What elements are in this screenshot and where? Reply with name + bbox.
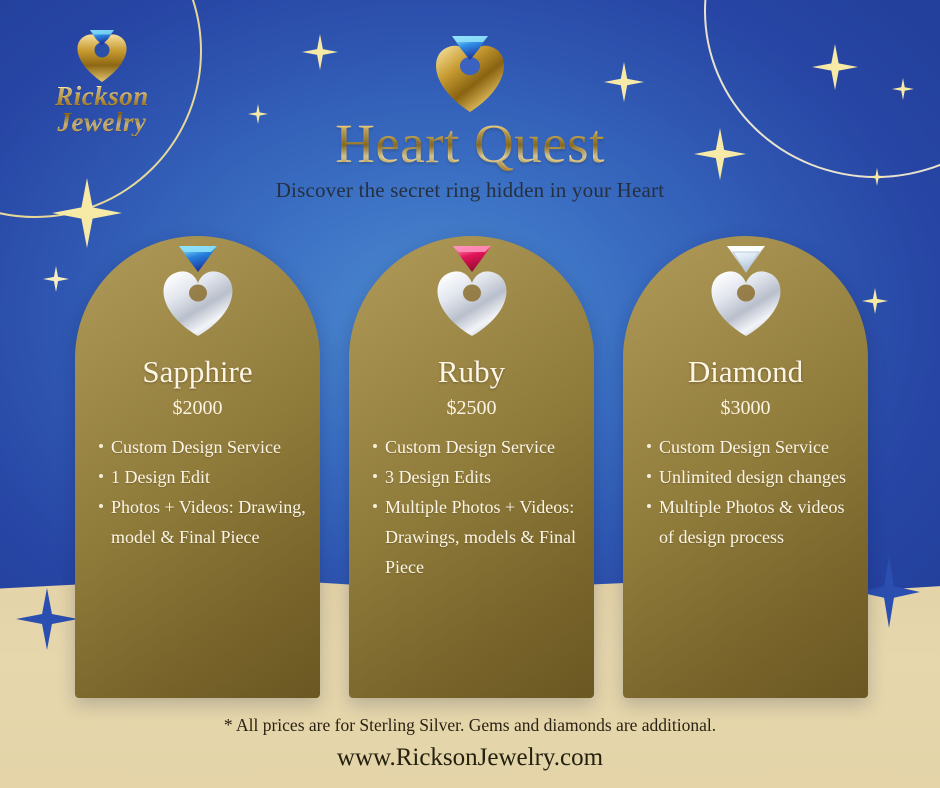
card-title: Ruby xyxy=(349,356,594,387)
feature-list: Custom Design Service Unlimited design c… xyxy=(623,432,868,552)
list-item: Custom Design Service xyxy=(647,432,858,462)
silver-heart-ring-icon xyxy=(687,250,805,342)
header: Heart Quest Discover the secret ring hid… xyxy=(0,16,940,203)
feature-list: Custom Design Service 1 Design Edit Phot… xyxy=(75,432,320,552)
silver-heart-ring-icon xyxy=(413,250,531,342)
card-price: $2500 xyxy=(349,397,594,420)
list-item: Custom Design Service xyxy=(99,432,310,462)
pricing-card-ruby[interactable]: Ruby $2500 Custom Design Service 3 Desig… xyxy=(349,236,594,698)
feature-list: Custom Design Service 3 Design Edits Mul… xyxy=(349,432,594,582)
pricing-card-diamond[interactable]: Diamond $3000 Custom Design Service Unli… xyxy=(623,236,868,698)
pricing-card-sapphire[interactable]: Sapphire $2000 Custom Design Service 1 D… xyxy=(75,236,320,698)
page-title: Heart Quest xyxy=(0,116,940,172)
card-price: $2000 xyxy=(75,397,320,420)
card-title: Sapphire xyxy=(75,356,320,387)
poster-canvas: Rickson Jewelry xyxy=(0,0,940,788)
website-link[interactable]: www.RicksonJewelry.com xyxy=(0,744,940,772)
card-title: Diamond xyxy=(623,356,868,387)
price-disclaimer: * All prices are for Sterling Silver. Ge… xyxy=(0,715,940,736)
list-item: Multiple Photos + Videos: Drawings, mode… xyxy=(373,492,584,582)
list-item: Photos + Videos: Drawing, model & Final … xyxy=(99,492,310,552)
list-item: 3 Design Edits xyxy=(373,462,584,492)
list-item: Custom Design Service xyxy=(373,432,584,462)
page-subtitle: Discover the secret ring hidden in your … xyxy=(0,178,940,203)
heart-ring-sapphire-icon xyxy=(418,16,522,120)
list-item: Multiple Photos & videos of design proce… xyxy=(647,492,858,552)
card-price: $3000 xyxy=(623,397,868,420)
list-item: Unlimited design changes xyxy=(647,462,858,492)
silver-heart-ring-icon xyxy=(139,250,257,342)
footer: * All prices are for Sterling Silver. Ge… xyxy=(0,715,940,772)
list-item: 1 Design Edit xyxy=(99,462,310,492)
pricing-cards: Sapphire $2000 Custom Design Service 1 D… xyxy=(0,236,940,706)
